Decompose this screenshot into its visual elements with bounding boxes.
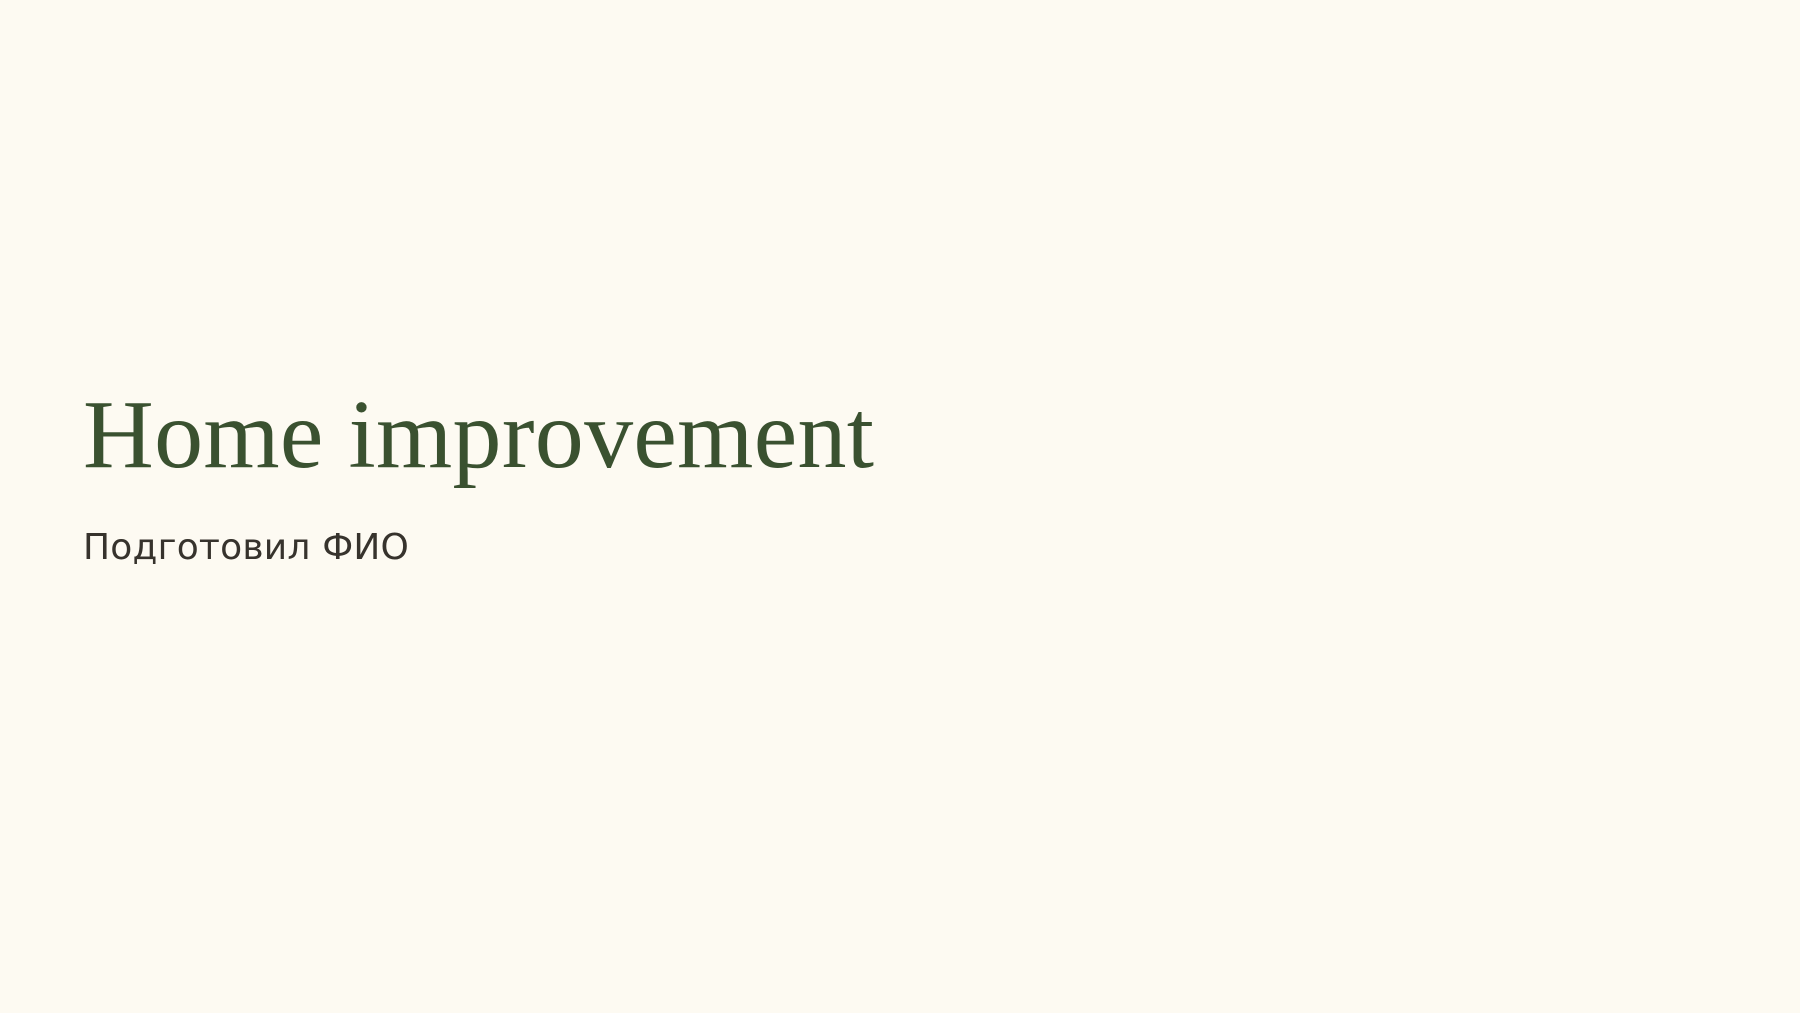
slide-subtitle: Подготовил ФИО — [83, 484, 1583, 566]
title-slide: Home improvement Подготовил ФИО — [0, 0, 1800, 1013]
title-block: Home improvement Подготовил ФИО — [83, 386, 1583, 566]
page-title: Home improvement — [83, 386, 1583, 484]
